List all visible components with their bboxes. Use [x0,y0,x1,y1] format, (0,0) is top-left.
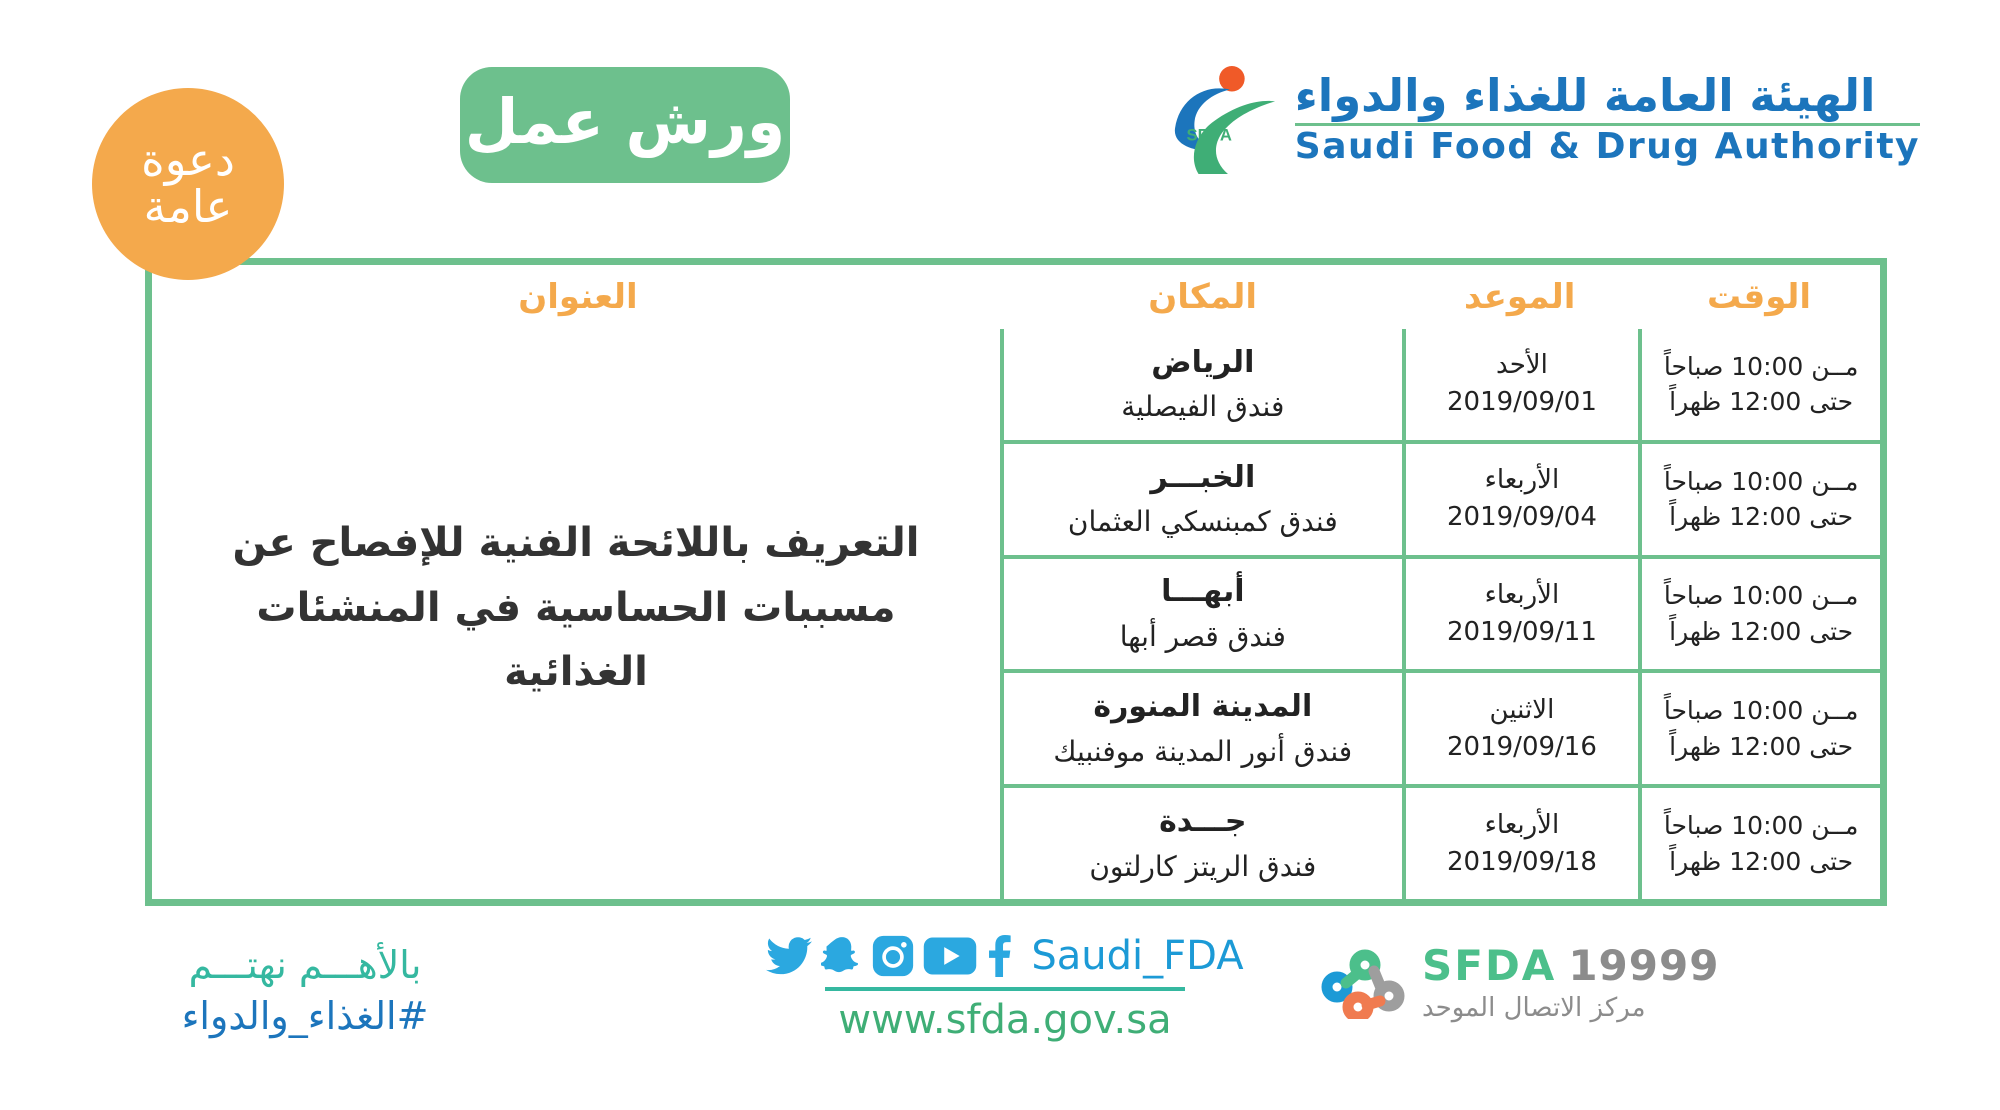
cell-place: جـــدة فندق الريتز كارلتون [1004,788,1402,899]
cell-time: مــن 10:00 صباحاً حتى 12:00 ظهراً [1638,673,1880,784]
table-row: مــن 10:00 صباحاً حتى 12:00 ظهراً الأربع… [1004,788,1880,899]
twitter-icon[interactable] [766,936,812,976]
place-city: أبهـــا [1161,571,1244,614]
date-value: 2019/09/16 [1447,729,1597,766]
slogan-line-1: بالأهـــم نهتـــم [189,940,422,991]
table-header-row: الوقت الموعد المكان العنوان [152,265,1880,329]
call-center-number: 19999 [1568,945,1719,987]
place-venue: فندق كمبنسكي العثمان [1068,502,1338,542]
cell-place: الخبـــر فندق كمبنسكي العثمان [1004,444,1402,555]
cell-date: الاثنين 2019/09/16 [1402,673,1639,784]
snapchat-icon[interactable] [821,935,863,977]
sfda-logo-english: Saudi Food & Drug Authority [1295,128,1920,166]
column-header-place: المكان [1004,265,1401,329]
badge-line-1: دعوة [141,137,235,184]
time-to: حتى 12:00 ظهراً [1669,844,1853,880]
sfda-logo-arabic: الهيئة العامة للغذاء والدواء [1295,72,1876,119]
table-row: مــن 10:00 صباحاً حتى 12:00 ظهراً الأربع… [1004,559,1880,674]
date-value: 2019/09/11 [1447,614,1597,651]
sfda-logo: SFDA الهيئة العامة للغذاء والدواء Saudi … [1173,60,1920,178]
cell-date: الأربعاء 2019/09/11 [1402,559,1639,670]
cell-place: أبهـــا فندق قصر أبها [1004,559,1402,670]
table-row: مــن 10:00 صباحاً حتى 12:00 ظهراً الأحد … [1004,329,1880,444]
workshops-table: الوقت الموعد المكان العنوان مــن 10:00 ص… [145,258,1887,906]
website-url[interactable]: www.sfda.gov.sa [838,998,1171,1042]
public-invitation-badge: دعوة عامة [92,88,284,280]
time-to: حتى 12:00 ظهراً [1669,729,1853,765]
call-center-line-1: SFDA 19999 [1422,945,1719,987]
banner-label: ورش عمل [465,91,786,159]
svg-text:SFDA: SFDA [1186,126,1231,145]
sfda-logo-text: الهيئة العامة للغذاء والدواء Saudi Food … [1295,72,1920,165]
date-day: الأحد [1496,347,1548,384]
time-from: مــن 10:00 صباحاً [1664,464,1859,500]
social-handle[interactable]: Saudi_FDA [1031,936,1243,976]
time-from: مــن 10:00 صباحاً [1664,693,1859,729]
instagram-icon[interactable] [872,935,914,977]
poster-footer: بالأهـــم نهتـــم #الغذاء_والدواء [0,915,2000,1110]
place-venue: فندق الفيصلية [1121,387,1284,427]
cell-place: الرياض فندق الفيصلية [1004,329,1402,440]
social-block: Saudi_FDA www.sfda.gov.sa [790,935,1220,1042]
place-city: المدينة المنورة [1093,686,1312,729]
place-city: الخبـــر [1150,457,1255,500]
sfda-logo-mark-icon: SFDA [1173,60,1281,178]
time-to: حتى 12:00 ظهراً [1669,384,1853,420]
time-from: مــن 10:00 صباحاً [1664,349,1859,385]
time-from: مــن 10:00 صباحاً [1664,578,1859,614]
place-venue: فندق أنور المدينة موفنبيك [1053,732,1352,772]
date-day: الأربعاء [1485,462,1560,499]
call-center-brand: SFDA [1422,945,1556,987]
date-day: الأربعاء [1485,807,1560,844]
place-city: الرياض [1151,342,1254,385]
slogan-hashtag: #الغذاء_والدواء [182,991,429,1042]
date-value: 2019/09/18 [1447,844,1597,881]
cell-date: الأحد 2019/09/01 [1402,329,1639,440]
table-row: مــن 10:00 صباحاً حتى 12:00 ظهراً الأربع… [1004,444,1880,559]
social-icons-row: Saudi_FDA [766,935,1243,977]
time-to: حتى 12:00 ظهراً [1669,499,1853,535]
place-venue: فندق قصر أبها [1120,617,1286,657]
table-schedule-columns: مــن 10:00 صباحاً حتى 12:00 ظهراً الأحد … [1004,329,1880,899]
cell-date: الأربعاء 2019/09/18 [1402,788,1639,899]
poster-canvas: دعوة عامة ورش عمل SFDA الهيئة العامة للغ… [0,0,2000,1110]
place-city: جـــدة [1159,801,1246,844]
cell-time: مــن 10:00 صباحاً حتى 12:00 ظهراً [1638,444,1880,555]
column-header-title: العنوان [152,265,1004,329]
workshop-title-cell: التعريف باللائحة الفنية للإفصاح عن مسببا… [152,329,1004,899]
workshop-title-text: التعريف باللائحة الفنية للإفصاح عن مسببا… [198,511,954,705]
cell-date: الأربعاء 2019/09/04 [1402,444,1639,555]
cell-time: مــن 10:00 صباحاً حتى 12:00 ظهراً [1638,788,1880,899]
social-divider [825,987,1185,991]
call-center-subtitle: مركز الاتصال الموحد [1422,995,1646,1021]
cell-time: مــن 10:00 صباحاً حتى 12:00 ظهراً [1638,329,1880,440]
slogan-block: بالأهـــم نهتـــم #الغذاء_والدواء [140,940,470,1043]
column-header-time: الوقت [1638,265,1880,329]
date-day: الأربعاء [1485,577,1560,614]
column-header-date: الموعد [1401,265,1638,329]
workshops-banner: ورش عمل [460,67,790,183]
table-body: مــن 10:00 صباحاً حتى 12:00 ظهراً الأحد … [152,329,1880,899]
date-value: 2019/09/01 [1447,384,1597,421]
call-center-text: SFDA 19999 مركز الاتصال الموحد [1422,945,1719,1021]
cell-time: مــن 10:00 صباحاً حتى 12:00 ظهراً [1638,559,1880,670]
date-value: 2019/09/04 [1447,499,1597,536]
badge-line-2: عامة [144,184,233,231]
call-center-logo-icon [1320,947,1406,1019]
time-from: مــن 10:00 صباحاً [1664,808,1859,844]
place-venue: فندق الريتز كارلتون [1089,847,1316,887]
time-to: حتى 12:00 ظهراً [1669,614,1853,650]
call-center-block: SFDA 19999 مركز الاتصال الموحد [1320,945,1719,1021]
youtube-icon[interactable] [923,936,977,976]
date-day: الاثنين [1490,692,1555,729]
facebook-icon[interactable] [986,935,1012,977]
cell-place: المدينة المنورة فندق أنور المدينة موفنبي… [1004,673,1402,784]
table-row: مــن 10:00 صباحاً حتى 12:00 ظهراً الاثني… [1004,673,1880,788]
